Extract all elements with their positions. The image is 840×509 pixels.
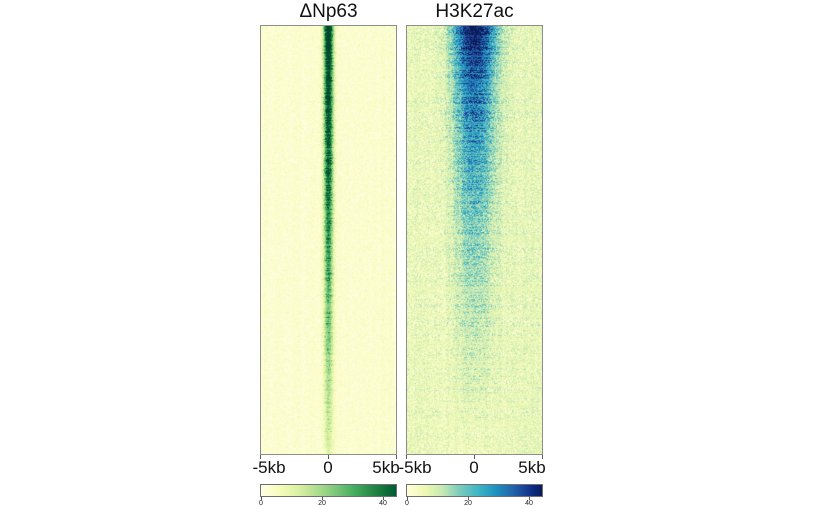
- colorbar-h3k27ac: 0 20 40: [406, 484, 543, 509]
- heatmap-h3k27ac: [406, 25, 543, 455]
- xtick-label-left: -5kb: [246, 457, 292, 479]
- xaxis-labels-h3k27ac: -5kb 0 5kb: [392, 457, 557, 479]
- colorbar-labels-h3k27ac: 0 20 40: [406, 499, 543, 509]
- xtick-label-left: -5kb: [392, 457, 438, 479]
- colorbar-labels-np63: 0 20 40: [260, 499, 397, 509]
- xtick-label-right: 5kb: [509, 457, 555, 479]
- xtick-label-center: 0: [451, 457, 497, 479]
- colorbar-label-40: 40: [374, 499, 392, 509]
- panel-title-np63: ΔNp63: [260, 1, 397, 23]
- xaxis-labels-np63: -5kb 0 5kb: [246, 457, 411, 479]
- colorbar-gradient-h3k27ac: [406, 484, 543, 497]
- heatmap-canvas-np63: [261, 26, 396, 454]
- heatmap-np63: [260, 25, 397, 455]
- heatmap-canvas-h3k27ac: [407, 26, 542, 454]
- colorbar-label-20: 20: [459, 499, 477, 509]
- figure-root: ΔNp63 -5kb 0 5kb 0 20 40: [0, 0, 840, 509]
- colorbar-label-0: 0: [252, 499, 270, 509]
- colorbar-label-0: 0: [398, 499, 416, 509]
- xtick-label-center: 0: [305, 457, 351, 479]
- colorbar-label-20: 20: [313, 499, 331, 509]
- panel-h3k27ac: H3K27ac -5kb 0 5kb 0 20 40: [406, 0, 543, 509]
- colorbar-label-40: 40: [520, 499, 538, 509]
- panel-title-h3k27ac: H3K27ac: [406, 1, 543, 23]
- colorbar-np63: 0 20 40: [260, 484, 397, 509]
- panel-np63: ΔNp63 -5kb 0 5kb 0 20 40: [260, 0, 397, 509]
- colorbar-gradient-np63: [260, 484, 397, 497]
